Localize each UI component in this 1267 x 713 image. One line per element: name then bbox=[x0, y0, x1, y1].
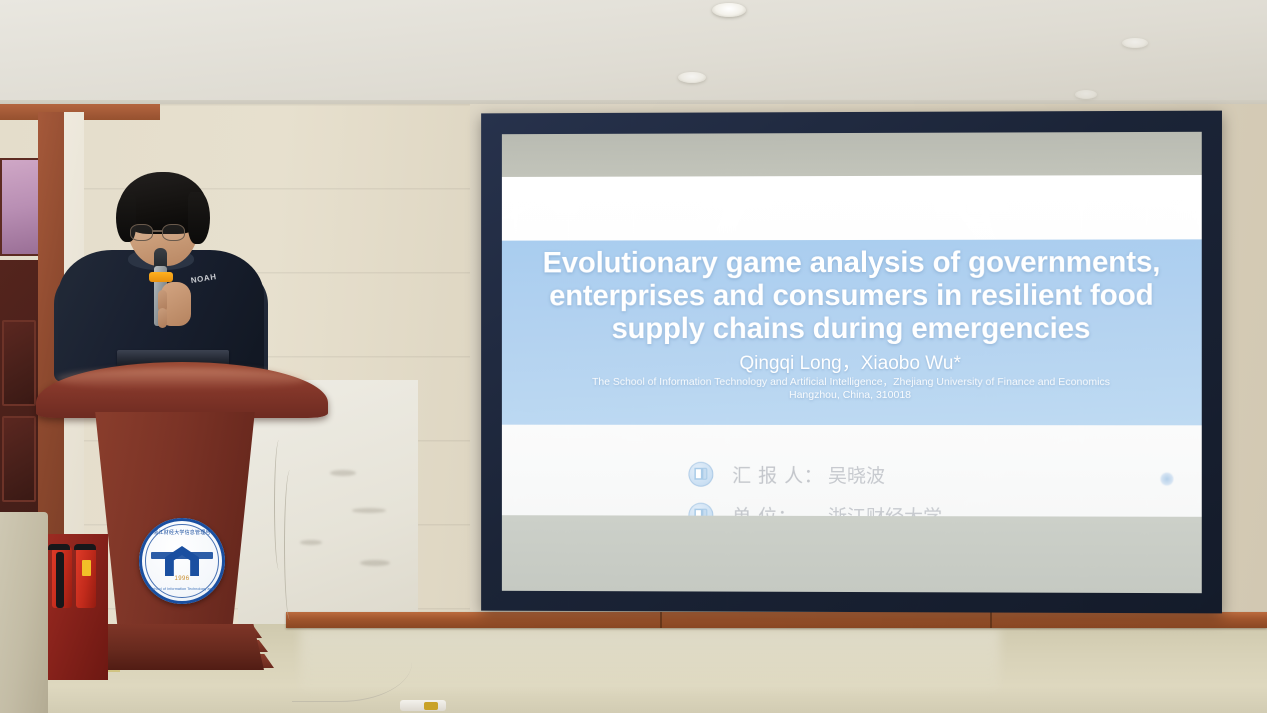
book-badge-icon bbox=[688, 503, 713, 517]
projection-screen-frame: Evolutionary game analysis of government… bbox=[481, 111, 1222, 614]
slide-title-band: Evolutionary game analysis of government… bbox=[502, 239, 1202, 425]
podium-base bbox=[88, 624, 264, 670]
presenter-finger bbox=[158, 308, 167, 328]
ceiling-downlight-icon bbox=[678, 72, 706, 83]
slide-affiliation-line1: The School of Information Technology and… bbox=[546, 376, 1156, 389]
power-plug bbox=[424, 702, 438, 710]
extinguisher-inspection-tag bbox=[82, 560, 91, 576]
letterbox-top bbox=[502, 132, 1202, 177]
book-badge-icon bbox=[688, 462, 713, 487]
presenter-hair-side bbox=[188, 192, 210, 244]
slide-affiliation-line2: Hangzhou, China, 310018 bbox=[546, 389, 1156, 402]
glasses-icon bbox=[130, 224, 153, 241]
glasses-icon bbox=[162, 224, 185, 241]
emblem-bottom-arc-text: School of Information Technology and Art… bbox=[148, 584, 216, 594]
baseboard-rail bbox=[286, 612, 1267, 628]
list-item: 汇 报 人： 吴晓波 bbox=[688, 461, 982, 488]
power-cable bbox=[284, 470, 296, 620]
glasses-bridge bbox=[153, 230, 162, 232]
ceiling-downlight-icon bbox=[1075, 90, 1097, 99]
ceiling-downlight-icon bbox=[712, 3, 746, 17]
emblem-base-bar bbox=[151, 552, 213, 559]
projection-screen-surface: Evolutionary game analysis of government… bbox=[502, 132, 1202, 593]
side-partition bbox=[0, 512, 48, 713]
power-cable bbox=[274, 440, 284, 570]
ceiling-downlight-icon bbox=[1122, 38, 1148, 48]
wall-scuff bbox=[360, 560, 390, 566]
extinguisher-hose bbox=[56, 552, 64, 608]
fire-extinguisher bbox=[76, 546, 96, 608]
presentation-slide: Evolutionary game analysis of government… bbox=[502, 175, 1202, 517]
podium-top-highlight bbox=[56, 368, 306, 390]
info-value: 浙江财经大学 bbox=[828, 502, 942, 517]
extinguisher-nozzle bbox=[74, 544, 96, 550]
letterbox-bottom bbox=[502, 515, 1202, 593]
baseboard-seam bbox=[990, 612, 992, 628]
door-panel bbox=[2, 416, 36, 502]
microphone-ring bbox=[149, 272, 173, 282]
emblem-year: 1996 bbox=[164, 576, 200, 582]
wall-scuff bbox=[300, 540, 322, 545]
slide-title: Evolutionary game analysis of government… bbox=[524, 245, 1179, 345]
extinguisher-nozzle bbox=[48, 544, 70, 550]
wall-scuff bbox=[352, 508, 386, 513]
slide-authors: Qingqi Long，Xiaobo Wu* bbox=[739, 348, 960, 375]
info-value: 吴晓波 bbox=[828, 461, 885, 488]
wall-scuff bbox=[330, 470, 356, 476]
baseboard-seam bbox=[660, 612, 662, 628]
door-panel bbox=[2, 320, 36, 406]
list-item: 单 位： 浙江财经大学 bbox=[688, 502, 982, 517]
slide-info-list: 汇 报 人： 吴晓波 单 位： 浙江财经大学 时 间： 2024年11月21日 bbox=[688, 461, 982, 517]
presentation-photo-scene: Evolutionary game analysis of government… bbox=[0, 0, 1267, 713]
info-label: 单 位： bbox=[732, 502, 828, 517]
info-label: 汇 报 人： bbox=[732, 461, 828, 488]
power-strip[interactable] bbox=[400, 700, 446, 711]
emblem-top-arc-text: 浙江财经大学信息管理与人工智能学院 bbox=[152, 527, 212, 539]
door-glass-panel bbox=[0, 158, 40, 256]
slide-decorative-mark bbox=[1160, 473, 1173, 486]
